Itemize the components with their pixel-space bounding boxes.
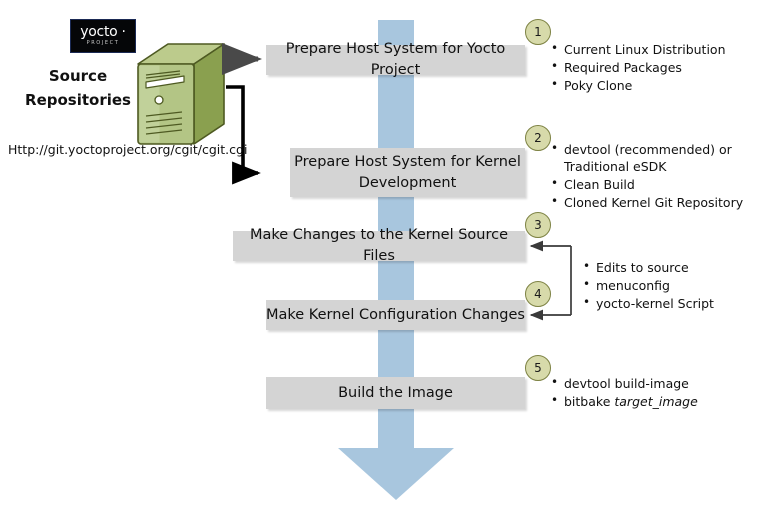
list-item: Cloned Kernel Git Repository bbox=[551, 194, 763, 211]
source-label-line-2: Repositories bbox=[18, 88, 138, 112]
list-item: Required Packages bbox=[551, 59, 763, 76]
list-item: yocto-kernel Script bbox=[583, 295, 763, 312]
process-box-step-2[interactable]: Prepare Host System for Kernel Developme… bbox=[290, 148, 525, 197]
process-box-step-3[interactable]: Make Changes to the Kernel Source Files bbox=[233, 231, 525, 261]
step-badge-4: 4 bbox=[525, 281, 551, 307]
bullet-list-step-5: devtool build-image bitbake target_image bbox=[551, 375, 763, 411]
bullet-list-step-2: devtool (recommended) or Traditional eSD… bbox=[551, 141, 763, 212]
list-item: Current Linux Distribution bbox=[551, 41, 763, 58]
bullet-list-step-1: Current Linux Distribution Required Pack… bbox=[551, 41, 763, 95]
process-box-step-4[interactable]: Make Kernel Configuration Changes bbox=[266, 300, 525, 330]
list-item-emphasis: target_image bbox=[614, 394, 697, 409]
list-item: devtool build-image bbox=[551, 375, 763, 392]
list-item: Edits to source bbox=[583, 259, 763, 276]
logo-subtext: PROJECT bbox=[87, 40, 120, 47]
source-label-line-1: Source bbox=[18, 64, 138, 88]
bullet-list-steps-3-4: Edits to source menuconfig yocto-kernel … bbox=[583, 259, 763, 313]
source-repositories-label: Source Repositories bbox=[18, 64, 138, 112]
step-badge-5: 5 bbox=[525, 355, 551, 381]
server-icon bbox=[136, 42, 226, 152]
list-item-text: bitbake bbox=[564, 394, 614, 409]
list-item: bitbake target_image bbox=[551, 393, 763, 410]
yocto-project-logo: yocto · PROJECT bbox=[70, 19, 136, 53]
flow-arrow-head bbox=[338, 448, 454, 500]
list-item: Poky Clone bbox=[551, 77, 763, 94]
step-badge-3: 3 bbox=[525, 212, 551, 238]
source-repository-url: Http://git.yoctoproject.org/cgit/cgit.cg… bbox=[8, 142, 247, 157]
list-item: Clean Build bbox=[551, 176, 763, 193]
list-item: devtool (recommended) or Traditional eSD… bbox=[551, 141, 763, 175]
step-badge-1: 1 bbox=[525, 19, 551, 45]
diagram-canvas: yocto · PROJECT Source Re bbox=[0, 0, 769, 517]
logo-wordmark: yocto · bbox=[80, 25, 125, 39]
process-box-step-1[interactable]: Prepare Host System for Yocto Project bbox=[266, 45, 525, 75]
step-badge-2: 2 bbox=[525, 125, 551, 151]
process-box-step-5[interactable]: Build the Image bbox=[266, 377, 525, 409]
list-item-text: devtool build-image bbox=[564, 376, 689, 391]
list-item: menuconfig bbox=[583, 277, 763, 294]
